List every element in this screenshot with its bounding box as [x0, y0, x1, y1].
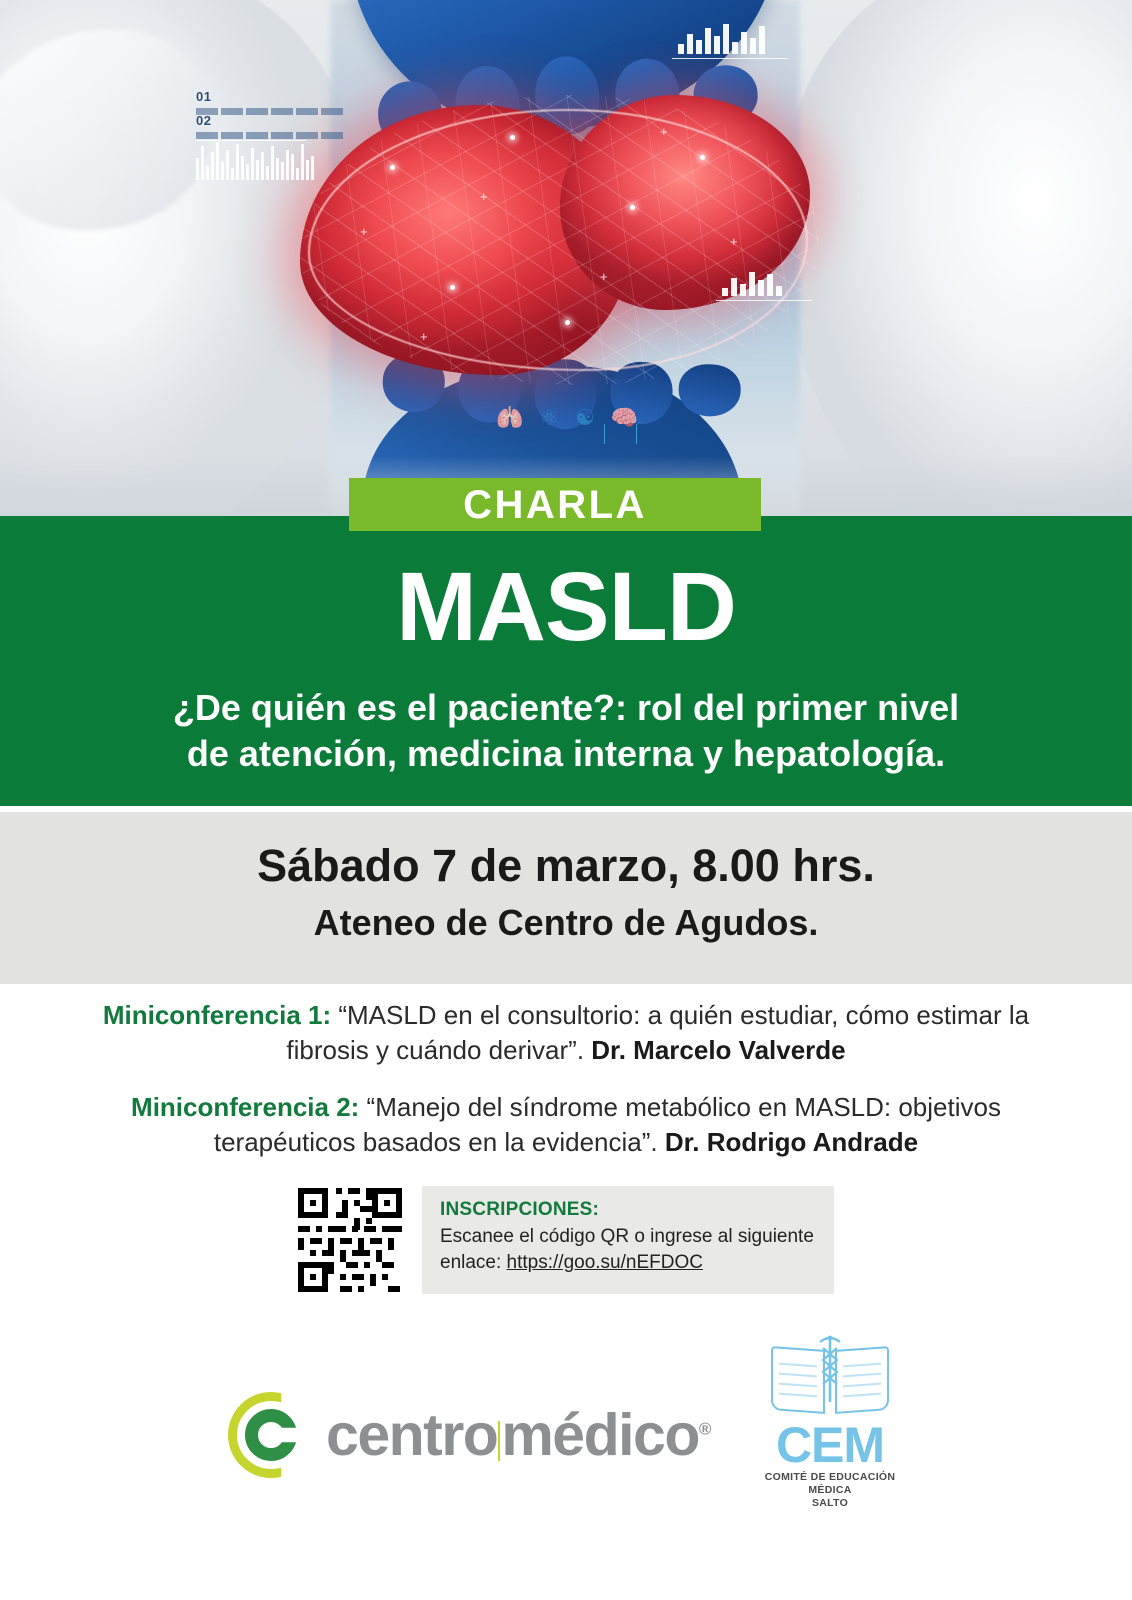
hud-equalizer-right — [722, 268, 782, 296]
stomach-icon: ⚛ — [539, 405, 559, 431]
hud-bar-chart — [196, 140, 314, 180]
liver-hologram-icon: + + + + + + — [300, 95, 820, 385]
talk-item-1: Miniconferencia 1: “MASLD en el consulto… — [90, 998, 1042, 1068]
charla-badge: CHARLA — [349, 478, 761, 531]
hud-equalizer — [678, 22, 765, 54]
event-place: Ateneo de Centro de Agudos. — [0, 904, 1132, 942]
centromedico-name-part1: centro — [326, 1402, 497, 1468]
centromedico-logo: centromédico® — [228, 1392, 711, 1478]
hud-annotation-02: 02 — [196, 112, 346, 139]
hud-rule-right — [716, 300, 812, 301]
talk-1-speaker: Dr. Marcelo Valverde — [591, 1035, 845, 1065]
page-title: MASLD — [0, 558, 1132, 655]
ekg-icon — [596, 424, 716, 444]
talk-item-2: Miniconferencia 2: “Manejo del síndrome … — [90, 1090, 1042, 1160]
cem-acronym: CEM — [744, 1420, 916, 1470]
talks-list: Miniconferencia 1: “MASLD en el consulto… — [90, 998, 1042, 1182]
caduceus-icon — [817, 1334, 843, 1406]
inscriptions-link-prefix: enlace: — [440, 1252, 507, 1273]
cem-logo: CEM COMITÉ DE EDUCACIÓN MÉDICA SALTO — [744, 1340, 916, 1510]
inscriptions-line-1: Escanee el código QR o ingrese al siguie… — [440, 1224, 814, 1250]
registration-link[interactable]: https://goo.su/nEFDOC — [507, 1252, 703, 1273]
page-subtitle: ¿De quién es el paciente?: rol del prime… — [90, 685, 1042, 777]
kidney-icon: ☯ — [575, 405, 595, 431]
talk-1-lead: Miniconferencia 1: — [103, 1000, 331, 1030]
centromedico-name-part2: médico — [501, 1402, 699, 1468]
cem-subtitle-line-1: COMITÉ DE EDUCACIÓN MÉDICA — [744, 1471, 916, 1497]
book-caduceus-icon — [771, 1340, 889, 1416]
talk-2-lead: Miniconferencia 2: — [131, 1092, 359, 1122]
inscriptions-line-2: enlace: https://goo.su/nEFDOC — [440, 1250, 814, 1276]
inscriptions-box: INSCRIPCIONES: Escanee el código QR o in… — [422, 1186, 834, 1294]
doctor-coat-right — [782, 0, 1132, 516]
hud-annotation-01: 01 — [196, 88, 346, 115]
subtitle-line-2: de atención, medicina interna y hepatolo… — [90, 731, 1042, 777]
cem-subtitle-line-2: SALTO — [744, 1497, 916, 1510]
hero-image: + + + + + + 01 02 — [0, 0, 1132, 516]
centromedico-wordmark: centromédico® — [326, 1406, 711, 1465]
centromedico-mark-icon — [228, 1392, 314, 1478]
qr-code-registration[interactable] — [296, 1186, 404, 1294]
hud-rule-top — [672, 58, 788, 59]
talk-2-speaker: Dr. Rodrigo Andrade — [665, 1127, 918, 1157]
registration-block: INSCRIPCIONES: Escanee el código QR o in… — [296, 1186, 834, 1294]
registered-mark: ® — [699, 1419, 712, 1438]
lungs-icon: 🫁 — [496, 405, 523, 431]
charla-label: CHARLA — [463, 485, 647, 525]
poster-root: + + + + + + 01 02 — [0, 0, 1132, 1600]
event-date: Sábado 7 de marzo, 8.00 hrs. — [0, 842, 1132, 889]
subtitle-line-1: ¿De quién es el paciente?: rol del prime… — [90, 685, 1042, 731]
inscriptions-heading: INSCRIPCIONES: — [440, 1199, 814, 1221]
date-band — [0, 812, 1132, 984]
